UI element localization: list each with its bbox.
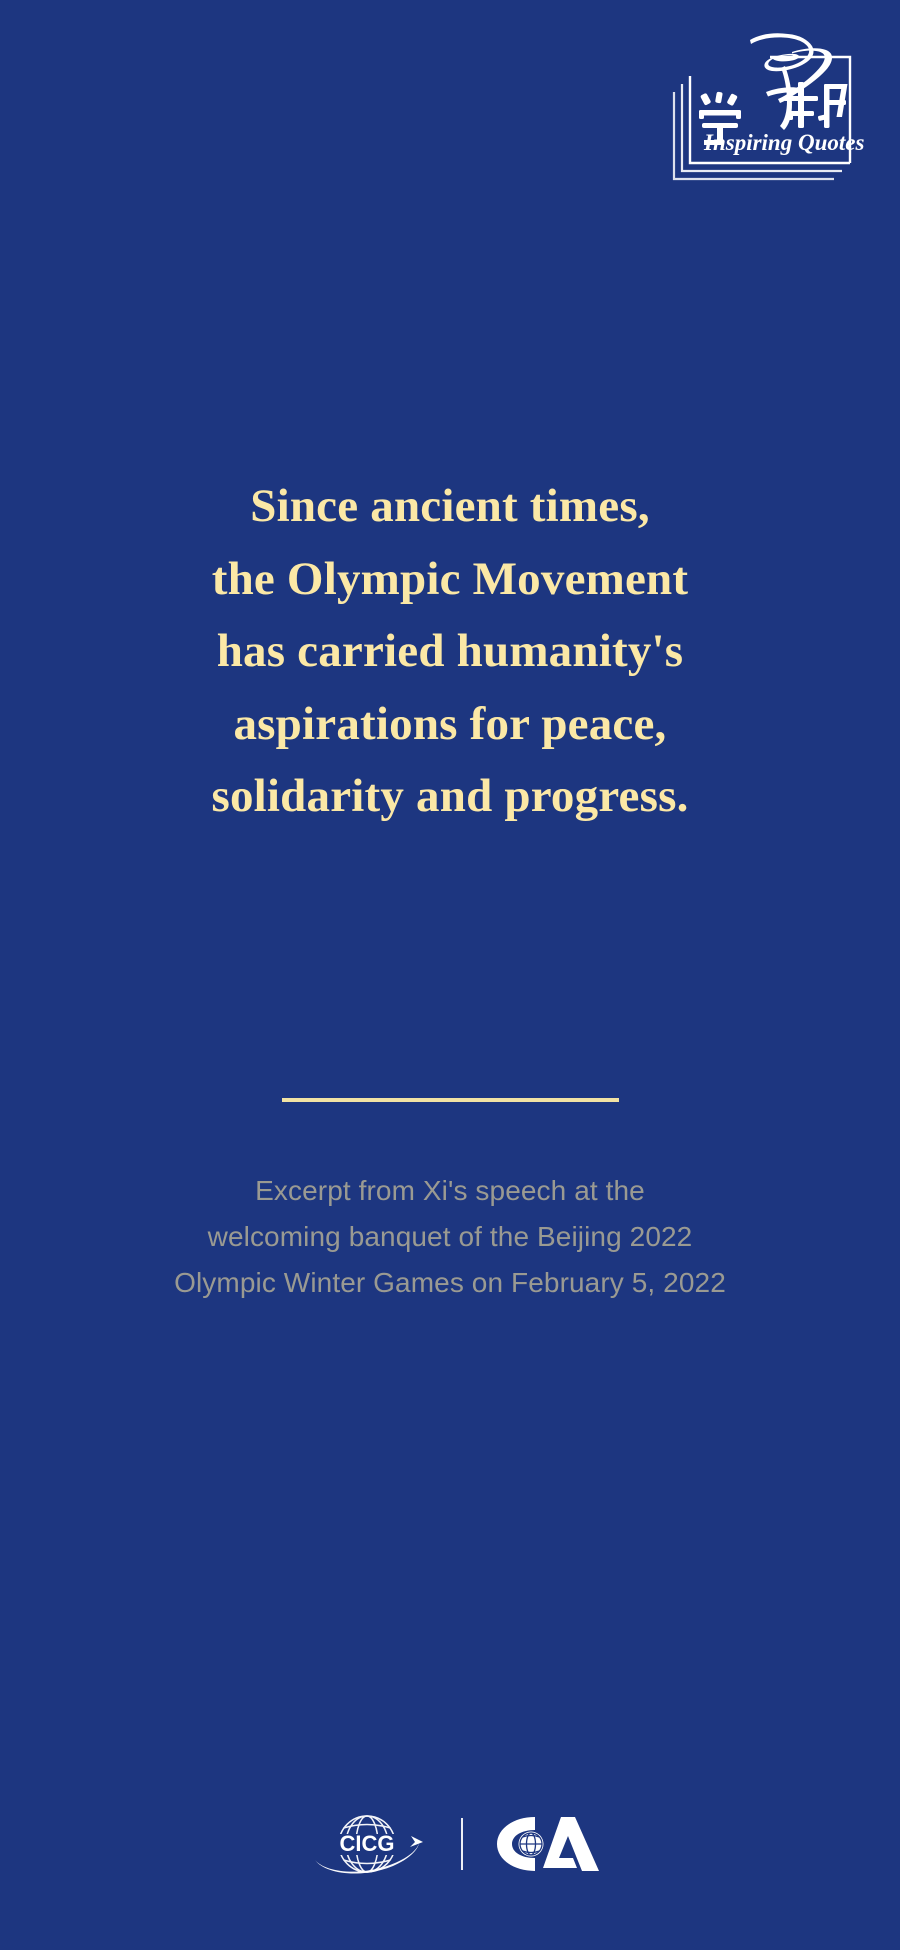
quote-line: the Olympic Movement (0, 543, 900, 616)
quote-line: solidarity and progress. (0, 760, 900, 833)
quote-divider (0, 1098, 900, 1102)
brand-logo: Inspiring Quotes Inspiring Quotes 学习卡片 (642, 22, 872, 187)
quote-line: Since ancient times, (0, 470, 900, 543)
quote-line: has carried humanity's (0, 615, 900, 688)
quote-block: Since ancient times, the Olympic Movemen… (0, 470, 900, 833)
cicg-wordmark-text: CICG (340, 1831, 395, 1856)
attribution-line: Olympic Winter Games on February 5, 2022 (0, 1260, 900, 1306)
divider-rule (282, 1098, 619, 1102)
attribution-line: welcoming banquet of the Beijing 2022 (0, 1214, 900, 1260)
ca-logo (489, 1813, 601, 1875)
footer-logos: CICG (0, 1808, 900, 1880)
footer-logo-separator (461, 1818, 463, 1870)
cicg-logo: CICG (299, 1808, 435, 1880)
attribution-line: Excerpt from Xi's speech at the (0, 1168, 900, 1214)
quote-card: Inspiring Quotes Inspiring Quotes 学习卡片 S… (0, 0, 900, 1950)
brand-subtitle-text: Inspiring Quotes (703, 130, 864, 155)
brand-char-pian (818, 84, 848, 128)
quote-line: aspirations for peace, (0, 688, 900, 761)
attribution-block: Excerpt from Xi's speech at the welcomin… (0, 1168, 900, 1306)
